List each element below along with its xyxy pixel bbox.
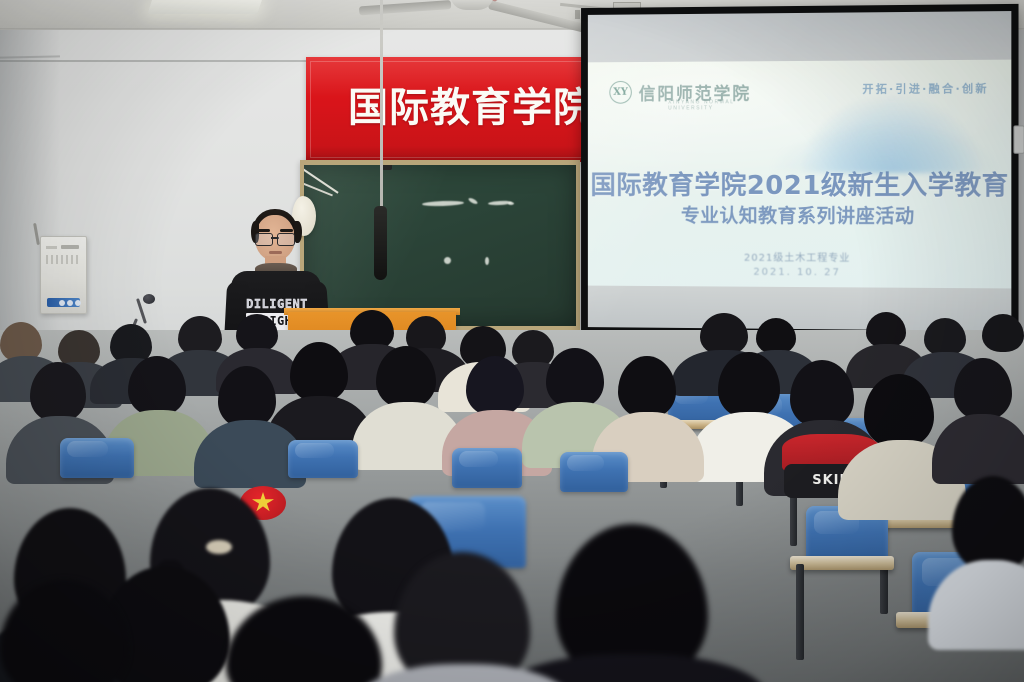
hanging-weight bbox=[374, 206, 387, 280]
lecture-hall-photo: 国际教育学院2021级 XY bbox=[0, 0, 1024, 682]
audience-head bbox=[700, 313, 748, 355]
slide-major: 2021级土木工程专业 bbox=[588, 248, 1011, 265]
audience-head bbox=[128, 356, 186, 416]
screen-bracket bbox=[1013, 125, 1024, 153]
ceiling-clip bbox=[575, 10, 580, 19]
banner-text: 国际教育学院2021级 bbox=[348, 77, 592, 139]
red-banner: 国际教育学院2021级 bbox=[306, 57, 592, 162]
audience-head bbox=[924, 318, 966, 356]
screen-letterbox-top bbox=[588, 11, 1011, 62]
hanging-cord bbox=[380, 0, 383, 212]
fluorescent-light-icon bbox=[147, 0, 262, 14]
audience-head bbox=[236, 314, 278, 352]
slide-subtitle: 专业认知教育系列讲座活动 bbox=[588, 201, 1011, 229]
seat bbox=[560, 452, 628, 492]
audience-head bbox=[756, 318, 796, 354]
audience: SKIES bbox=[0, 300, 1024, 682]
audience-head bbox=[982, 314, 1024, 352]
seat bbox=[452, 448, 522, 488]
seat bbox=[60, 438, 134, 478]
audience-shoulders bbox=[932, 414, 1024, 484]
glasses-icon bbox=[255, 233, 295, 244]
logo-name-en: XINYANG NORMAL UNIVERSITY bbox=[668, 99, 751, 111]
audience-head bbox=[290, 342, 348, 402]
audience-head bbox=[866, 312, 906, 348]
audience-head bbox=[954, 358, 1012, 420]
slide-date: 2021. 10. 27 bbox=[588, 266, 1011, 280]
projection-screen: XY 信阳师范学院 XINYANG NORMAL UNIVERSITY 开拓·引… bbox=[581, 4, 1018, 338]
presentation-slide: XY 信阳师范学院 XINYANG NORMAL UNIVERSITY 开拓·引… bbox=[588, 60, 1011, 289]
audience-head bbox=[466, 356, 524, 416]
audience-head bbox=[30, 362, 86, 422]
logo-mark-icon: XY bbox=[609, 81, 631, 104]
seat bbox=[288, 440, 358, 478]
university-logo: XY 信阳师范学院 XINYANG NORMAL UNIVERSITY bbox=[609, 79, 751, 104]
slide-slogan: 开拓·引进·融合·创新 bbox=[862, 80, 988, 97]
slide-title: 国际教育学院2021级新生入学教育 bbox=[588, 165, 1011, 202]
audience-head bbox=[218, 366, 276, 428]
audience-head bbox=[790, 360, 854, 428]
audience-head bbox=[546, 348, 604, 408]
audience-head bbox=[618, 356, 676, 418]
audience-head bbox=[376, 346, 436, 408]
